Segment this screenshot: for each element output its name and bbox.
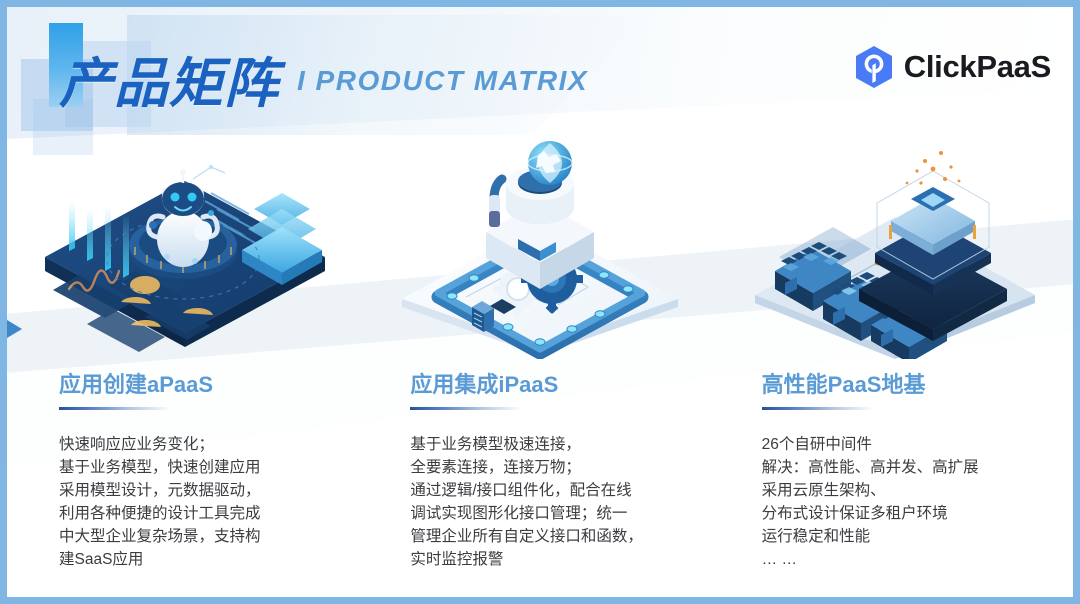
column-heading: 应用创建aPaaS	[59, 367, 213, 399]
product-columns: 应用创建aPaaS 快速响应应业务变化； 基于业务模型，快速创建应用 采用模型设…	[7, 139, 1073, 604]
page-subtitle: I PRODUCT MATRIX	[297, 65, 588, 97]
illustration-server-racks-pyramid	[732, 139, 1059, 371]
logo-wordmark: ClickPaaS	[904, 49, 1051, 85]
product-column-apaas[interactable]: 应用创建aPaaS 快速响应应业务变化； 基于业务模型，快速创建应用 采用模型设…	[7, 139, 362, 604]
brand-logo[interactable]: ClickPaaS	[854, 45, 1051, 89]
hexagon-logo-icon	[854, 45, 894, 89]
product-column-paas-foundation[interactable]: 高性能PaaS地基 26个自研中间件 解决：高性能、高并发、高扩展 采用云原生架…	[718, 139, 1073, 604]
product-column-ipaas[interactable]: 应用集成iPaaS 基于业务模型极速连接， 全要素连接，连接万物； 通过逻辑/接…	[362, 139, 717, 604]
illustration-robot-dashboard	[21, 139, 348, 371]
column-heading: 应用集成iPaaS	[410, 367, 558, 399]
illustration-globe-gear-circuit	[376, 139, 703, 371]
column-body-text: 26个自研中间件 解决：高性能、高并发、高扩展 采用云原生架构、 分布式设计保证…	[762, 433, 1065, 571]
column-body-text: 快速响应应业务变化； 基于业务模型，快速创建应用 采用模型设计，元数据驱动， 利…	[59, 433, 354, 571]
column-body-text: 基于业务模型极速连接， 全要素连接，连接万物； 通过逻辑/接口组件化，配合在线 …	[410, 433, 709, 571]
column-divider	[59, 407, 171, 410]
column-divider	[762, 407, 874, 410]
slide-header: 产品矩阵 I PRODUCT MATRIX ClickPaaS	[7, 7, 1073, 139]
column-heading: 高性能PaaS地基	[762, 367, 926, 399]
slide-root: 产品矩阵 I PRODUCT MATRIX ClickPaaS	[0, 0, 1080, 604]
column-divider	[410, 407, 522, 410]
page-title: 产品矩阵	[59, 39, 279, 118]
